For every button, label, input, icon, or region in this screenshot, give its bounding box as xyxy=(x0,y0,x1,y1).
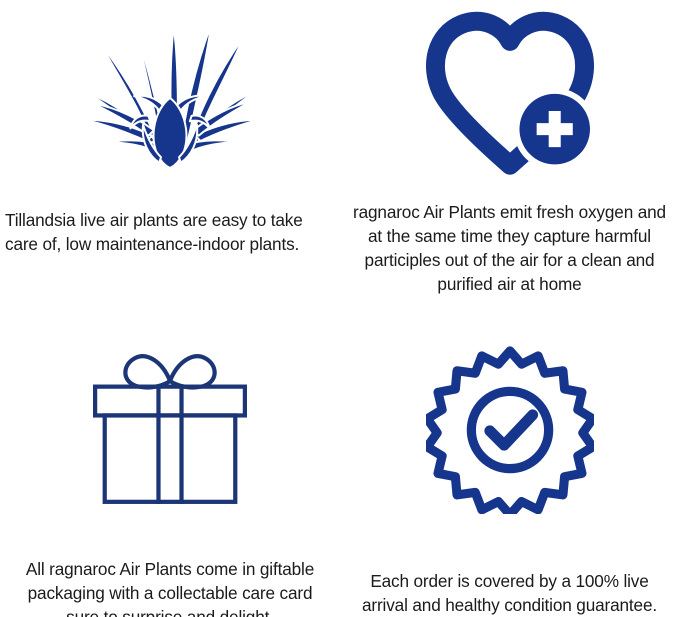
badge-inner-circle xyxy=(471,391,548,468)
feature-text-giftable-packaging: All ragnaroc Air Plants come in giftable… xyxy=(12,557,328,617)
gift-box-icon xyxy=(74,346,266,506)
feature-text-fresh-oxygen: ragnaroc Air Plants emit fresh oxygen an… xyxy=(349,200,671,296)
feature-card-live-arrival-guarantee: Each order is covered by a 100% live arr… xyxy=(340,308,679,617)
gift-body xyxy=(105,415,236,501)
feature-text-live-arrival-guarantee: Each order is covered by a 100% live arr… xyxy=(349,569,671,617)
guarantee-badge-icon xyxy=(426,346,594,514)
bow-right-loop xyxy=(170,356,215,387)
check-icon xyxy=(489,415,532,445)
feature-grid: Tillandsia live air plants are easy to t… xyxy=(0,0,679,617)
heart-plus-icon xyxy=(424,8,596,178)
bow-left-loop xyxy=(125,356,170,387)
air-plant-icon xyxy=(80,8,260,186)
feature-card-easy-care: Tillandsia live air plants are easy to t… xyxy=(0,0,340,308)
feature-card-giftable-packaging: All ragnaroc Air Plants come in giftable… xyxy=(0,308,340,617)
feature-card-fresh-oxygen: ragnaroc Air Plants emit fresh oxygen an… xyxy=(340,0,679,308)
gift-lid xyxy=(95,387,245,416)
feature-text-easy-care: Tillandsia live air plants are easy to t… xyxy=(3,208,337,256)
